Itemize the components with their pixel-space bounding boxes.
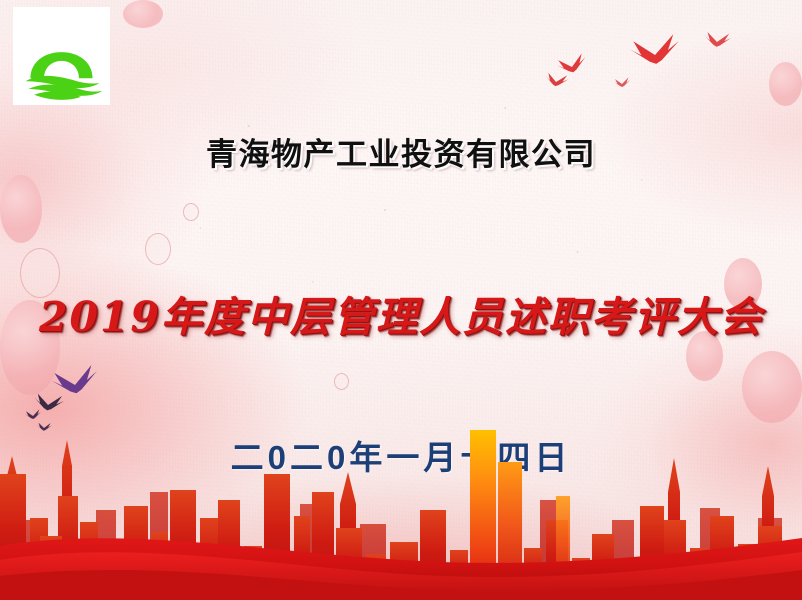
bubble-small-ring bbox=[334, 373, 349, 390]
bubble-mid-ring bbox=[183, 203, 199, 221]
city-skyline bbox=[0, 400, 802, 600]
page-title: 2019年度中层管理人员述职考评大会 bbox=[0, 283, 802, 343]
presentation-slide: 青海物产工业投资有限公司 2019年度中层管理人员述职考评大会 二0二0年一月十… bbox=[0, 0, 802, 600]
company-logo-icon bbox=[13, 7, 110, 105]
bubble-left-upper-fill bbox=[0, 175, 42, 243]
company-title: 青海物产工业投资有限公司 bbox=[0, 129, 802, 174]
bubble-center-ring bbox=[145, 233, 171, 265]
bubble-right-upper-fill bbox=[769, 62, 802, 106]
bubble-topleft-fill bbox=[123, 0, 163, 28]
company-logo bbox=[13, 7, 110, 105]
city-skyline-graphic bbox=[0, 400, 802, 600]
